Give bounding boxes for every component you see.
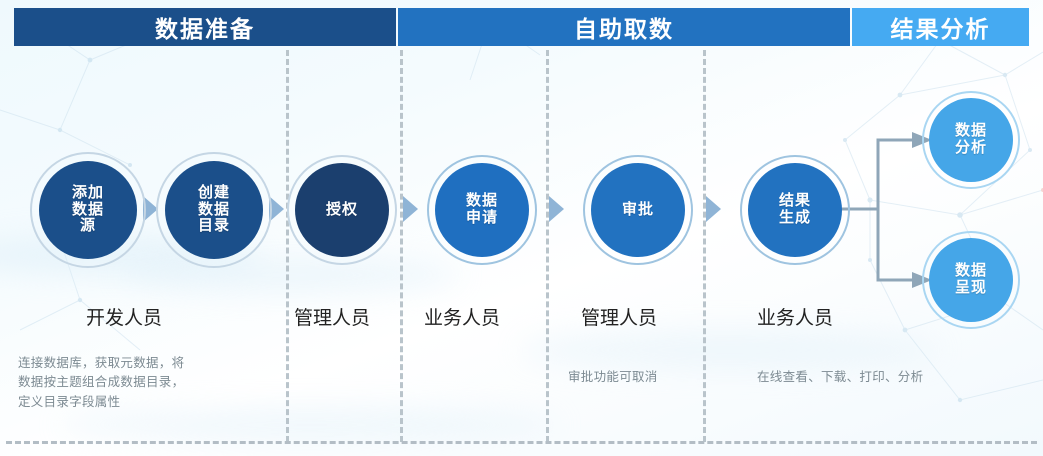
role-label-developer: 开发人员	[86, 303, 162, 330]
node-label-data-present: 数据 呈现	[955, 263, 987, 297]
phase-band-self-service-fetch: 自助取数	[398, 8, 850, 46]
description-approval: 审批功能可取消	[568, 368, 738, 387]
node-label-data-analysis: 数据 分析	[955, 123, 987, 157]
node-label-add-datasource: 添加 数据 源	[72, 185, 104, 235]
wisp-mid	[520, 330, 940, 370]
node-label-create-catalog: 创建 数据 目录	[198, 185, 230, 235]
node-result-generate[interactable]: 结果 生成	[748, 163, 842, 257]
arrow-authorize-to-request	[403, 196, 418, 222]
node-label-data-request: 数据 申请	[466, 193, 498, 227]
role-label-manager-1: 管理人员	[294, 303, 370, 330]
divider-2	[400, 50, 403, 442]
phase-band-label: 数据准备	[155, 10, 255, 44]
node-data-present[interactable]: 数据 呈现	[929, 238, 1013, 322]
arrow-request-to-approval	[549, 196, 564, 222]
divider-1	[286, 50, 289, 442]
role-label-business-1: 业务人员	[424, 303, 500, 330]
node-label-authorize: 授权	[326, 202, 358, 219]
node-add-datasource[interactable]: 添加 数据 源	[39, 161, 137, 259]
role-label-business-2: 业务人员	[757, 303, 833, 330]
infographic-canvas: 数据准备 自助取数 结果分析 添加 数据 源	[0, 0, 1043, 456]
wisp-left-2	[120, 258, 460, 292]
phase-band-label: 结果分析	[891, 10, 991, 44]
node-data-request[interactable]: 数据 申请	[435, 163, 529, 257]
phase-band-data-preparation: 数据准备	[14, 8, 396, 46]
phase-band-result-analysis: 结果分析	[852, 8, 1029, 46]
bottom-dashed-rule	[6, 441, 1037, 444]
node-label-approval: 审批	[622, 202, 654, 219]
description-data-preparation: 连接数据库，获取元数据，将 数据按主题组合成数据目录， 定义目录字段属性	[18, 354, 268, 412]
wisp-bottom	[60, 408, 560, 442]
node-authorize[interactable]: 授权	[295, 163, 389, 257]
node-data-analysis[interactable]: 数据 分析	[929, 98, 1013, 182]
arrow-approval-to-result	[706, 196, 721, 222]
node-create-catalog[interactable]: 创建 数据 目录	[165, 161, 263, 259]
description-result: 在线查看、下载、打印、分析	[757, 368, 1007, 387]
role-label-manager-2: 管理人员	[581, 303, 657, 330]
node-approval[interactable]: 审批	[591, 163, 685, 257]
divider-3	[546, 50, 549, 442]
phase-band-label: 自助取数	[574, 10, 674, 44]
node-label-result-generate: 结果 生成	[779, 193, 811, 227]
